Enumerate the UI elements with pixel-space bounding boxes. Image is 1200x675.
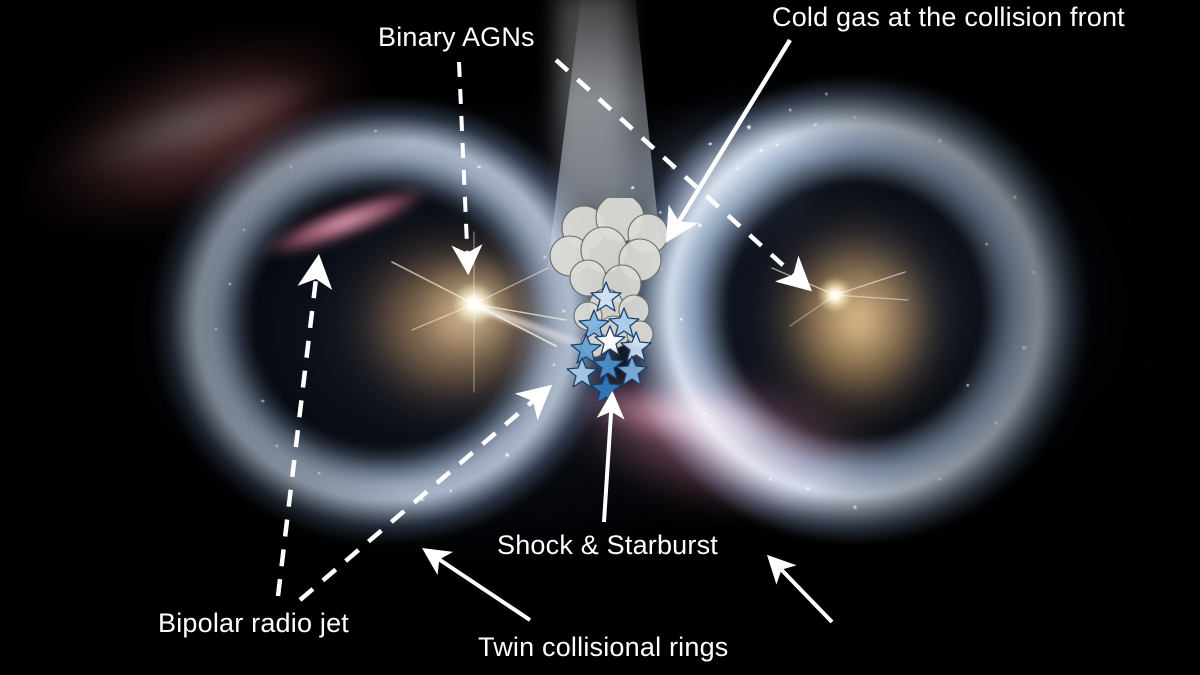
arrow-bipolar-jet-nw xyxy=(278,262,318,596)
arrow-binary-agns-left xyxy=(459,62,468,268)
arrow-binary-agns-right xyxy=(556,60,806,286)
arrow-shock-starburst xyxy=(604,398,612,522)
label-cold-gas[interactable]: Cold gas at the collision front xyxy=(772,2,1125,33)
label-twin-collisional-rings[interactable]: Twin collisional rings xyxy=(478,632,729,663)
annotation-arrows xyxy=(0,0,1200,675)
arrow-twin-rings-left xyxy=(428,552,530,620)
label-bipolar-radio-jet[interactable]: Bipolar radio jet xyxy=(158,608,349,639)
arrow-bipolar-jet-se xyxy=(300,390,546,600)
label-shock-starburst[interactable]: Shock & Starburst xyxy=(497,530,718,561)
label-binary-agns[interactable]: Binary AGNs xyxy=(378,22,535,53)
illustration-canvas: Binary AGNs Cold gas at the collision fr… xyxy=(0,0,1200,675)
arrow-cold-gas xyxy=(670,40,790,236)
arrow-twin-rings-right xyxy=(772,560,832,622)
